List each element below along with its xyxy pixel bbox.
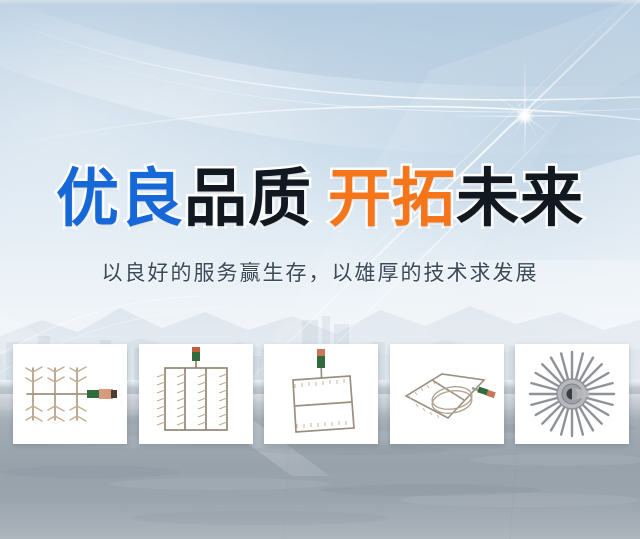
product-card-flat-frame-coil-element[interactable] <box>390 344 504 444</box>
flare-spike <box>451 115 525 116</box>
flare-spike <box>524 56 525 116</box>
radial-starburst-fan-element-icon <box>515 344 629 444</box>
product-card-double-row-finned-rack-element[interactable] <box>139 344 253 444</box>
headline-segment-blue: 优良 <box>56 164 184 234</box>
flat-frame-coil-element-icon <box>390 344 504 444</box>
rectangular-frame-element-icon <box>264 344 378 444</box>
product-card-rectangular-frame-element[interactable] <box>264 344 378 444</box>
product-card-branched-comb-heating-element[interactable] <box>13 344 127 444</box>
flare-spike <box>524 116 525 160</box>
headline-segment-orange: 开拓 <box>328 164 456 234</box>
page-title: 优良品质开拓未来 <box>0 163 640 235</box>
headline-segment-dark-2: 未来 <box>456 164 584 234</box>
page-subtitle: 以良好的服务赢生存，以雄厚的技术求发展 <box>0 257 640 287</box>
product-card-radial-starburst-fan-element[interactable] <box>515 344 629 444</box>
double-row-finned-rack-element-icon <box>139 344 253 444</box>
promo-banner: 优良品质开拓未来 以良好的服务赢生存，以雄厚的技术求发展 <box>0 0 640 539</box>
branched-comb-heating-element-icon <box>13 344 127 444</box>
flare-spike <box>525 115 599 116</box>
product-card-strip <box>13 344 629 444</box>
headline-segment-dark-1: 品质 <box>184 164 312 234</box>
